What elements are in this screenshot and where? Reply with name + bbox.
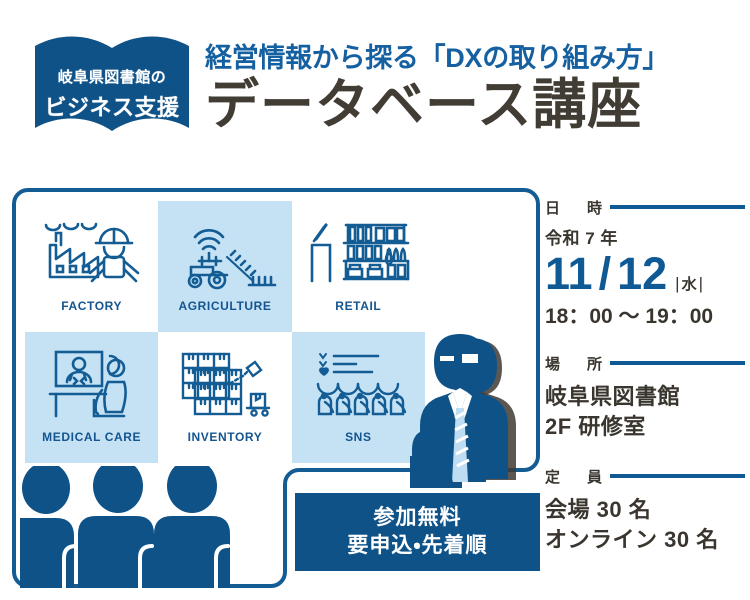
free-admission-badge: 参加無料 要申込・先着順 bbox=[295, 493, 540, 571]
detail-date-heading: 日 時 bbox=[545, 196, 745, 218]
grid-label-inventory: INVENTORY bbox=[188, 430, 263, 444]
heading-rule bbox=[610, 205, 745, 209]
factory-worker-icon bbox=[36, 209, 148, 297]
capacity-line-1: 会場 30 名 bbox=[545, 495, 745, 525]
industry-icon-grid: FACTORY bbox=[25, 201, 425, 463]
poster-title: データベース講座 bbox=[205, 77, 740, 134]
badge-line-1: 参加無料 bbox=[374, 504, 462, 532]
capacity-line-2: オンライン 30 名 bbox=[545, 525, 745, 555]
heading-rule bbox=[610, 361, 745, 365]
illustration-panel: FACTORY bbox=[12, 188, 540, 588]
detail-capacity-body: 会場 30 名 オンライン 30 名 bbox=[545, 495, 745, 554]
dow-bar-right: | bbox=[697, 274, 705, 293]
detail-time: 18：00 〜 19：00 bbox=[545, 300, 745, 330]
venue-line-1: 岐阜県図書館 bbox=[545, 382, 745, 412]
telemedicine-icon bbox=[36, 340, 148, 428]
dow-text: 水 bbox=[682, 276, 697, 293]
detail-capacity-label: 定 員 bbox=[545, 466, 608, 487]
grid-cell-sns: SNS bbox=[292, 332, 425, 463]
poster-subtitle: 経営情報から探る「DXの取り組み方」 bbox=[205, 44, 740, 73]
grid-label-retail: RETAIL bbox=[335, 299, 381, 313]
grid-cell-inventory: INVENTORY bbox=[158, 332, 291, 463]
dow-bar-left: | bbox=[673, 274, 681, 293]
detail-venue: 場 所 岐阜県図書館 2F 研修室 bbox=[545, 352, 745, 441]
detail-date-row: 11 / 12 |水| bbox=[545, 251, 745, 296]
event-details: 日 時 令和 7 年 11 / 12 |水| 18：00 〜 19：00 場 所… bbox=[545, 196, 745, 561]
seated-audience-icon bbox=[20, 466, 290, 588]
detail-venue-label: 場 所 bbox=[545, 353, 608, 374]
grid-label-agriculture: AGRICULTURE bbox=[178, 299, 271, 313]
title-block: 経営情報から探る「DXの取り組み方」 データベース講座 bbox=[205, 44, 740, 134]
grid-label-medical-care: MEDICAL CARE bbox=[42, 430, 141, 444]
poster-header: 岐阜県図書館の ビジネス支援 経営情報から探る「DXの取り組み方」 データベース… bbox=[0, 0, 750, 180]
detail-capacity: 定 員 会場 30 名 オンライン 30 名 bbox=[545, 465, 745, 554]
venue-line-2: 2F 研修室 bbox=[545, 412, 745, 442]
open-book-icon bbox=[32, 28, 192, 150]
detail-venue-heading: 場 所 bbox=[545, 352, 745, 374]
grid-label-sns: SNS bbox=[345, 430, 371, 444]
detail-venue-body: 岐阜県図書館 2F 研修室 bbox=[545, 382, 745, 441]
event-poster: 岐阜県図書館の ビジネス支援 経営情報から探る「DXの取り組み方」 データベース… bbox=[0, 0, 750, 600]
grid-cell-agriculture: AGRICULTURE bbox=[158, 201, 291, 332]
presenter-with-laptop-icon bbox=[410, 328, 540, 488]
detail-day-of-week: |水| bbox=[673, 273, 705, 294]
grid-cell-factory: FACTORY bbox=[25, 201, 158, 332]
detail-date-separator: / bbox=[593, 251, 618, 296]
detail-date: 日 時 令和 7 年 11 / 12 |水| 18：00 〜 19：00 bbox=[545, 196, 745, 330]
detail-month: 11 bbox=[545, 251, 593, 296]
grid-label-factory: FACTORY bbox=[61, 299, 122, 313]
grid-cell-retail: RETAIL bbox=[292, 201, 425, 332]
grid-cell-medical-care: MEDICAL CARE bbox=[25, 332, 158, 463]
heading-rule bbox=[610, 474, 745, 478]
detail-era-year: 令和 7 年 bbox=[545, 224, 745, 249]
detail-date-label: 日 時 bbox=[545, 197, 608, 218]
warehouse-racks-icon bbox=[169, 340, 281, 428]
badge-line-2: 要申込・先着順 bbox=[347, 532, 487, 560]
detail-capacity-heading: 定 員 bbox=[545, 465, 745, 487]
smart-tractor-icon bbox=[169, 209, 281, 297]
detail-day: 12 bbox=[617, 251, 667, 296]
social-crowd-icon bbox=[302, 340, 414, 428]
store-shelves-icon bbox=[302, 209, 414, 297]
